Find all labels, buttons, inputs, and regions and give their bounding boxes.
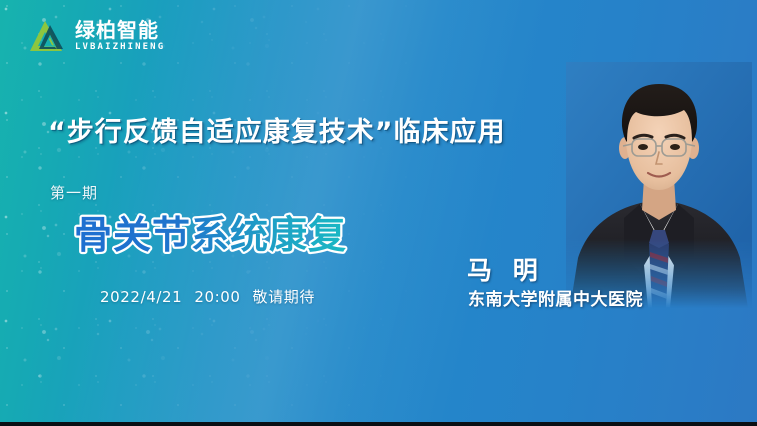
brand-name-cn: 绿柏智能 [75,20,165,40]
schedule-line: 2022/4/2120:00敬请期待 [100,286,315,307]
series-headline: 骨关节系统康复 [72,210,372,258]
series-issue-label: 第一期 [50,182,98,203]
page-title: “步行反馈自适应康复技术”临床应用 [48,110,506,149]
brand-logo: 绿柏智能 LVBAIZHINENG [26,16,165,56]
schedule-tagline: 敬请期待 [253,288,315,306]
webinar-poster: 绿柏智能 LVBAIZHINENG “步行反馈自适应康复技术”临床应用 第一期 … [0,0,757,426]
schedule-time: 20:00 [194,288,240,306]
brand-name-en: LVBAIZHINENG [75,43,165,52]
speaker-name: 马 明 [467,251,544,287]
speaker-portrait [566,62,752,308]
bottom-bar [0,422,757,426]
speaker-organization: 东南大学附属中大医院 [468,285,643,310]
series-headline-text: 骨关节系统康复 [74,213,347,257]
triangle-mark-logo-icon [26,16,66,56]
schedule-date: 2022/4/21 [100,288,182,306]
